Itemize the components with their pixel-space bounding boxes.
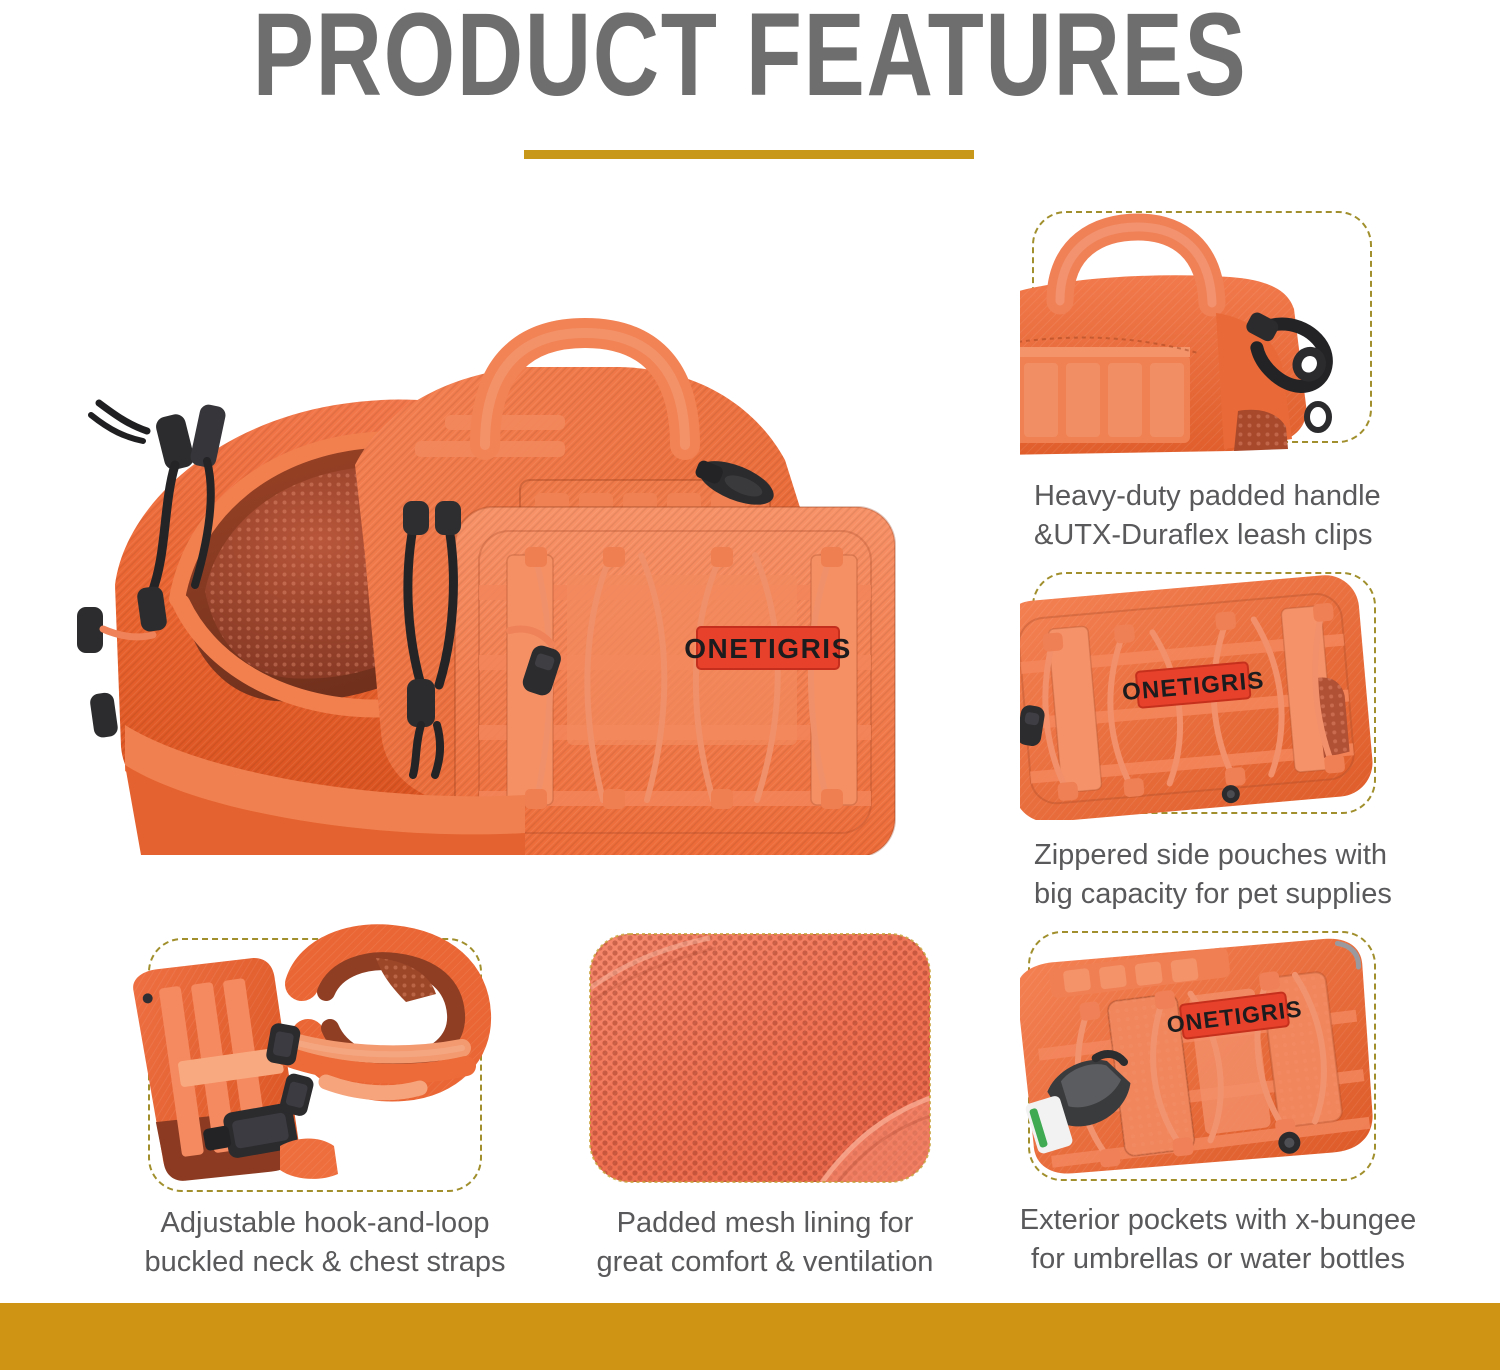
feature-side-pouches: ONETIGRIS Zippered side pouches with big… <box>1020 568 1390 820</box>
feature-3-illustration <box>130 918 510 1190</box>
feature-4-caption: Padded mesh lining for great comfort & v… <box>550 1204 980 1282</box>
feature-5-illustration: ONETIGRIS <box>1020 925 1400 1191</box>
feature-4-illustration <box>570 918 950 1190</box>
feature-handle-leash-clips: Heavy-duty padded handle &UTX-Duraflex l… <box>1020 205 1390 455</box>
page-title: PRODUCT FEATURES <box>165 0 1335 118</box>
feature-2-caption: Zippered side pouches with big capacity … <box>1034 836 1434 914</box>
feature-5-caption: Exterior pockets with x-bungee for umbre… <box>998 1201 1438 1279</box>
feature-1-caption: Heavy-duty padded handle &UTX-Duraflex l… <box>1034 477 1434 555</box>
feature-neck-chest-straps: Adjustable hook-and-loop buckled neck & … <box>130 918 520 1190</box>
feature-3-caption: Adjustable hook-and-loop buckled neck & … <box>110 1204 540 1282</box>
feature-exterior-pockets: ONETIGRIS Exterior pockets with x-bungee… <box>1020 925 1410 1191</box>
feature-mesh-lining: Padded mesh lining for great comfort & v… <box>570 918 960 1190</box>
feature-2-illustration: ONETIGRIS <box>1020 568 1390 820</box>
bottom-accent-bar <box>0 1303 1500 1370</box>
title-underline-rule <box>524 150 974 159</box>
page-header: PRODUCT FEATURES <box>0 0 1500 180</box>
hero-product-image: ONETIGRIS <box>55 255 965 855</box>
feature-1-illustration <box>1020 205 1382 455</box>
hero-product-illustration: ONETIGRIS <box>55 255 965 855</box>
svg-text:ONETIGRIS: ONETIGRIS <box>684 633 852 664</box>
